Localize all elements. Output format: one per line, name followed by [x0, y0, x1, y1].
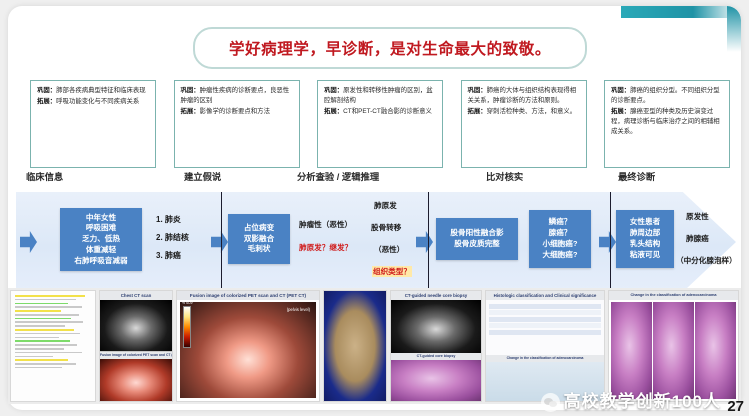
thumbnail-caption: Change in the classification of adenocar… — [609, 291, 738, 300]
subtype-line: 大细胞癌? — [542, 250, 577, 261]
thumbnail-caption: CT-guided needle core biopsy — [391, 291, 481, 300]
card-extend-label: 拓展： — [468, 108, 487, 115]
knowledge-card: 巩固：肺部各疾病典型特征和临床表现 拓展：呼吸功能变化与不同疾病关系 — [30, 80, 156, 168]
diagnostic-flow-band: 中年女性 呼吸困难 乏力、低热 体重减轻 右肺呼吸音减弱 1. 肺炎 2. 肺结… — [16, 192, 736, 292]
thumbnail-histologic-classification-table[interactable]: Histologic classification and Clinical s… — [485, 290, 605, 402]
card-consolidate-text: 肺部各疾病典型特征和临床表现 — [56, 87, 145, 94]
core-biopsy-histology-image — [391, 360, 481, 401]
subtype-line: 腺癌？ — [549, 228, 572, 239]
chest-ct-image — [100, 300, 172, 352]
clinical-line: 中年女性 — [86, 213, 116, 224]
document-page — [11, 291, 95, 401]
thumbnail-caption: CT-guided core biopsy — [391, 353, 481, 360]
card-extend-text: CT和PET-CT融合影的诊断意义 — [343, 108, 432, 115]
thumbnail-caption: Fusion image of colorized PET scan and C… — [177, 291, 319, 300]
knowledge-card: 巩固：肺癌的组织分型。不同组织分型的诊断要点。 拓展：腺癌亚型的种类及历史演变过… — [604, 80, 730, 168]
thumbnail-caption: Fusion image of colorized PET scan and C… — [100, 352, 172, 359]
section-divider — [428, 192, 429, 292]
histology-tile — [611, 302, 652, 399]
clinical-line: 体重减轻 — [86, 245, 116, 256]
section-divider — [221, 192, 222, 292]
femur-line: 股骨阳性融合影 — [450, 228, 503, 239]
card-consolidate-label: 巩固： — [468, 87, 487, 94]
thumbnail-gross-lung-specimen[interactable] — [323, 290, 387, 402]
hypothesis-item: 1. 肺炎 — [156, 214, 181, 225]
thumbnail-caption: Chest CT scan — [100, 291, 172, 300]
hypothesis-item: 3. 肺癌 — [156, 250, 181, 261]
stage-label-row: 临床信息 建立假说 分析查验 / 逻辑推理 比对核实 最终诊断 — [26, 169, 738, 185]
wechat-icon — [541, 393, 560, 412]
stage-label-hypothesis: 建立假说 — [184, 169, 221, 183]
note-tumor-nature: 肿瘤性（恶性） — [299, 219, 352, 230]
thumbnail-caption: Change in the classification of adenocar… — [486, 355, 604, 362]
final-diagnosis-line: 原发性 — [686, 211, 709, 222]
note-primary-or-secondary: 肺原发？继发？ — [299, 242, 352, 253]
ct-guided-biopsy-image — [391, 300, 481, 353]
imaging-line: 毛刺状 — [248, 244, 271, 255]
hypothesis-item: 2. 肺结核 — [156, 232, 189, 243]
pathology-line: 肺周边部 — [630, 228, 660, 239]
flow-box-imaging-finding: 占位病变 双影融合 毛刺状 — [228, 214, 290, 264]
flow-arrow-icon — [416, 231, 433, 253]
flow-box-subtype-question: 鳞癌？ 腺癌？ 小细胞癌? 大细胞癌? — [529, 210, 591, 268]
chest-pet-image — [100, 359, 172, 403]
histology-tile — [653, 302, 694, 399]
card-extend-text: 呼吸功能变化与不同疾病关系 — [56, 98, 139, 105]
flow-arrow-icon — [211, 231, 228, 253]
subtype-line: 鳞癌？ — [549, 217, 572, 228]
classification-table — [486, 300, 604, 355]
imaging-line: 双影融合 — [244, 234, 274, 245]
pathology-line: 女性患者 — [630, 217, 660, 228]
clinical-line: 乏力、低热 — [82, 234, 120, 245]
flow-box-femur-finding: 股骨阳性融合影 股骨皮质完整 — [436, 218, 518, 260]
note-lung-primary: 肺原发 — [374, 200, 397, 211]
flow-arrow-icon — [599, 231, 616, 253]
thumbnail-pet-ct-fusion-pelvis[interactable]: Fusion image of colorized PET scan and C… — [176, 290, 320, 402]
stage-label-analysis: 分析查验 / 逻辑推理 — [297, 169, 379, 183]
note-femur-metastasis: 股骨转移 — [371, 222, 401, 233]
card-extend-text: 穿刺活检种类、方法，和意义。 — [487, 108, 576, 115]
stage-label-final-diagnosis: 最终诊断 — [618, 169, 655, 183]
banner-text: 学好病理学，早诊断，是对生命最大的致敬。 — [229, 37, 551, 59]
watermark-text: 高校教学创新100人 — [564, 387, 721, 412]
pelvis-level-label: (pelvis level) — [287, 307, 310, 312]
card-consolidate-label: 巩固： — [611, 87, 630, 94]
imaging-line: 占位病变 — [244, 223, 274, 234]
thumbnail-chest-ct-scan[interactable]: Chest CT scan Fusion image of colorized … — [99, 290, 173, 402]
section-divider — [610, 192, 611, 292]
knowledge-card: 巩固：原发性和转移性肿瘤的区别，盆腔解剖结构 拓展：CT和PET-CT融合影的诊… — [317, 80, 443, 168]
suv-colorbar — [183, 306, 191, 348]
pathology-line: 粘液可见 — [630, 250, 660, 261]
thumbnail-adenocarcinoma-histology-panel[interactable]: Change in the classification of adenocar… — [608, 290, 739, 402]
clinical-line: 右肺呼吸音减弱 — [74, 256, 127, 267]
card-extend-label: 拓展： — [611, 108, 630, 115]
card-extend-text: 影像学的诊断要点和方法 — [200, 108, 270, 115]
knowledge-card-row: 巩固：肺部各疾病典型特征和临床表现 拓展：呼吸功能变化与不同疾病关系 巩固：肿瘤… — [30, 80, 730, 168]
card-extend-label: 拓展： — [324, 108, 343, 115]
flow-box-pathology-feature: 女性患者 肺周边部 乳头结构 粘液可见 — [616, 210, 674, 268]
subtype-line: 小细胞癌? — [542, 239, 577, 250]
pathology-line: 乳头结构 — [630, 239, 660, 250]
pet-ct-fusion-image: % SUV (pelvis level) — [180, 302, 316, 398]
flow-arrow-icon — [20, 231, 37, 253]
teal-corner-accent — [621, 6, 741, 18]
flow-box-clinical-info: 中年女性 呼吸困难 乏力、低热 体重减轻 右肺呼吸音减弱 — [60, 208, 142, 271]
thumbnail-caption: Histologic classification and Clinical s… — [486, 291, 604, 300]
femur-line: 股骨皮质完整 — [454, 239, 500, 250]
knowledge-card: 巩固：肺癌的大体与组织结构表现得相关关系，肿瘤诊断的方法和原则。 拓展：穿刺活检… — [461, 80, 587, 168]
card-consolidate-label: 巩固： — [37, 87, 56, 94]
classification-panel-stack: Change in the classification of adenocar… — [486, 300, 604, 401]
final-diagnosis-line: （中分化腺泡样） — [676, 255, 737, 266]
card-extend-label: 拓展： — [37, 98, 56, 105]
ct-panel-stack: Fusion image of colorized PET scan and C… — [100, 300, 172, 401]
thumbnail-case-report-document[interactable] — [10, 290, 96, 402]
thumbnail-ct-guided-needle-core-biopsy[interactable]: CT-guided needle core biopsy CT-guided c… — [390, 290, 482, 402]
card-consolidate-label: 巩固： — [324, 87, 343, 94]
knowledge-card: 巩固：肿瘤性疾病的诊断要点，良恶性肿瘤的区别 拓展：影像学的诊断要点和方法 — [174, 80, 300, 168]
histology-tile-row — [609, 300, 738, 401]
stage-label-clinical-info: 临床信息 — [26, 169, 63, 183]
note-malignant: （恶性） — [374, 244, 404, 255]
clinical-line: 呼吸困难 — [86, 223, 116, 234]
stage-label-verification: 比对核实 — [486, 169, 523, 183]
page-number: 27 — [727, 398, 744, 415]
suv-colorbar-label: % SUV — [182, 301, 193, 305]
card-extend-label: 拓展： — [181, 108, 200, 115]
biopsy-panel-stack: CT-guided core biopsy — [391, 300, 481, 401]
card-consolidate-label: 巩固： — [181, 87, 200, 94]
slide-banner: 学好病理学，早诊断，是对生命最大的致敬。 — [193, 27, 587, 69]
final-diagnosis-line: 肺腺癌 — [686, 233, 709, 244]
histology-tile — [695, 302, 736, 399]
note-histologic-type: 组织类型？ — [372, 266, 412, 277]
watermark: 高校教学创新100人 — [541, 387, 721, 412]
